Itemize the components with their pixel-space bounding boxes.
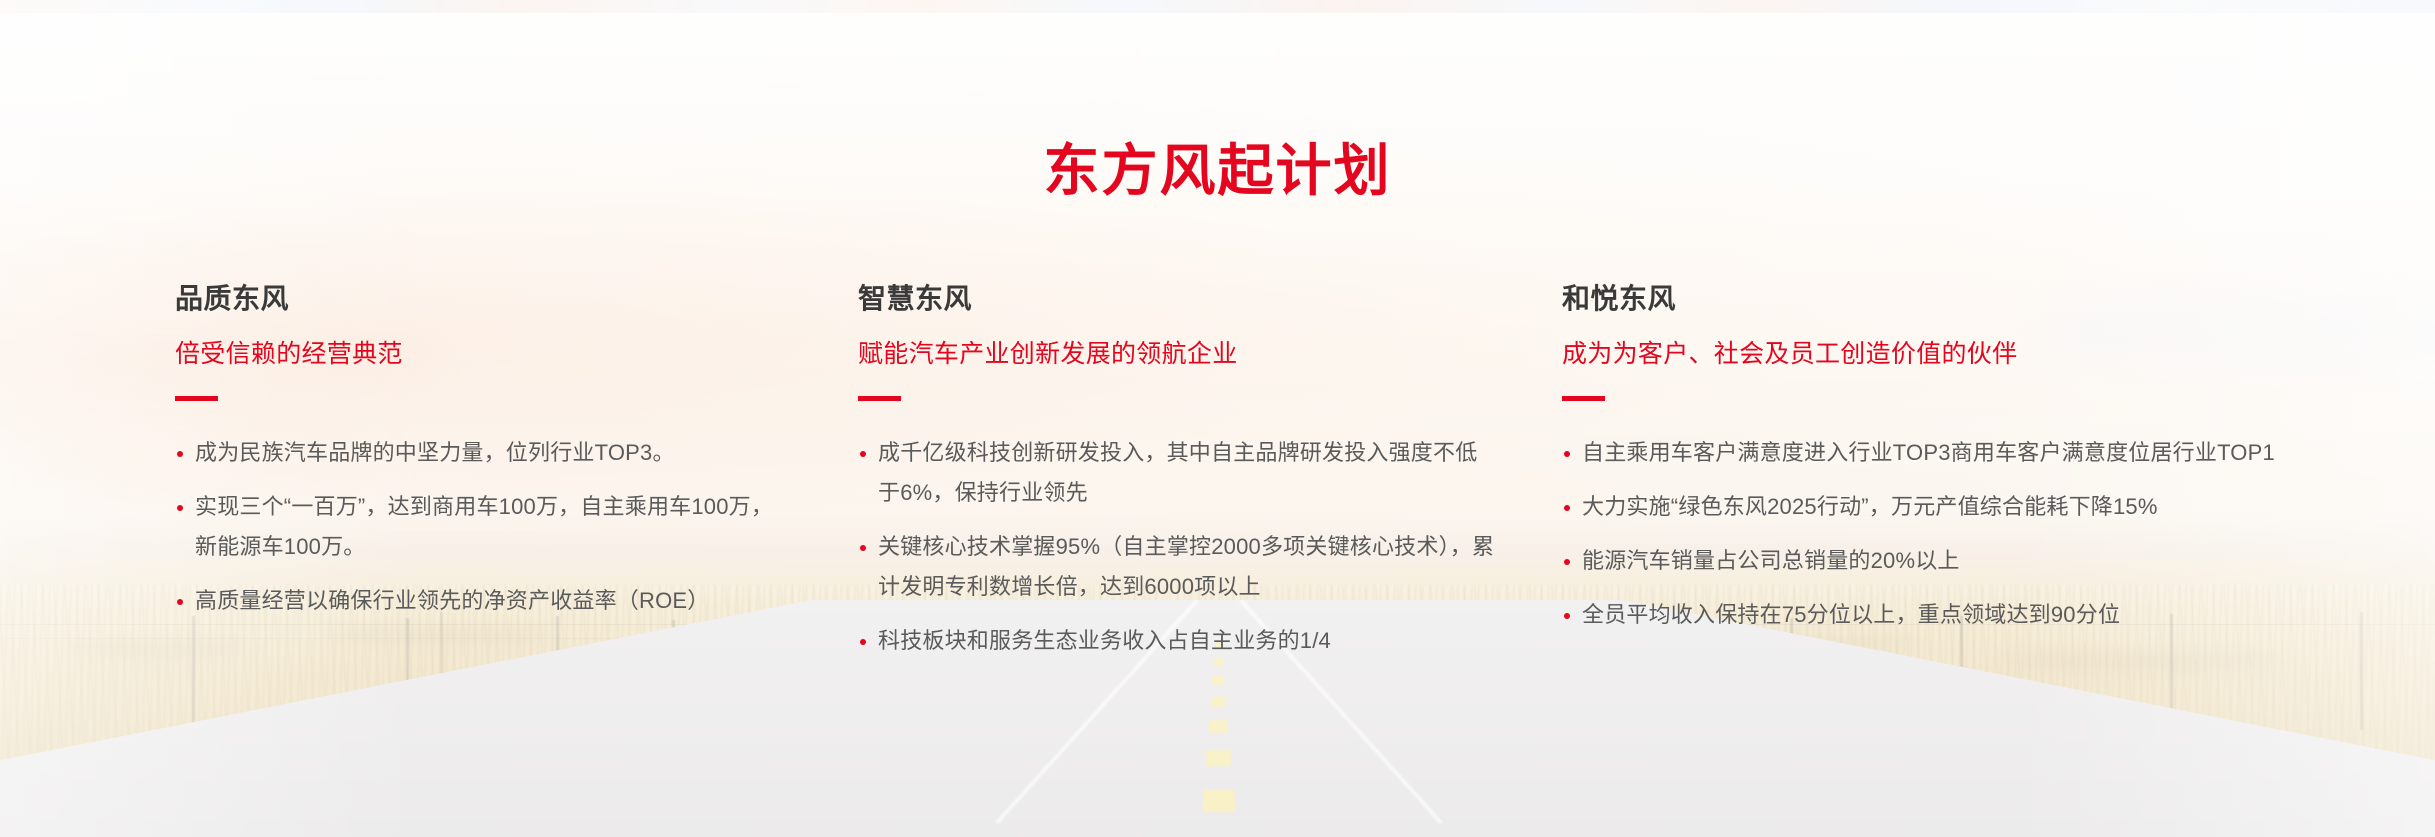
list-item: 全员平均收入保持在75分位以上，重点领域达到90分位: [1562, 595, 2302, 635]
bullet-dot-icon: [177, 599, 183, 605]
column-heading: 智慧东风: [858, 282, 1498, 316]
list-item-text: 能源汽车销量占公司总销量的20%以上: [1582, 548, 1960, 573]
list-item-text: 成千亿级科技创新研发投入，其中自主品牌研发投入强度不低于6%，保持行业领先: [878, 440, 1477, 505]
list-item-text: 全员平均收入保持在75分位以上，重点领域达到90分位: [1582, 602, 2120, 627]
list-item-text: 成为民族汽车品牌的中坚力量，位列行业TOP3。: [195, 440, 675, 465]
slide-canvas: 东方风起计划 品质东风 倍受信赖的经营典范 成为民族汽车品牌的中坚力量，位列行业…: [0, 0, 2435, 837]
list-item: 自主乘用车客户满意度进入行业TOP3商用车客户满意度位居行业TOP1: [1562, 433, 2302, 473]
column-heading: 品质东风: [175, 282, 795, 316]
bullet-dot-icon: [177, 505, 183, 511]
bullet-dot-icon: [1564, 559, 1570, 565]
column-divider: [858, 396, 901, 401]
list-item: 成千亿级科技创新研发投入，其中自主品牌研发投入强度不低于6%，保持行业领先: [858, 433, 1498, 513]
column-divider: [1562, 396, 1605, 401]
column-bullet-list: 自主乘用车客户满意度进入行业TOP3商用车客户满意度位居行业TOP1 大力实施“…: [1562, 433, 2302, 635]
column-heading: 和悦东风: [1562, 282, 2302, 316]
bullet-dot-icon: [177, 451, 183, 457]
bullet-dot-icon: [860, 545, 866, 551]
page-title: 东方风起计划: [0, 140, 2435, 202]
slide-content: 东方风起计划 品质东风 倍受信赖的经营典范 成为民族汽车品牌的中坚力量，位列行业…: [0, 0, 2435, 837]
column-bullet-list: 成千亿级科技创新研发投入，其中自主品牌研发投入强度不低于6%，保持行业领先 关键…: [858, 433, 1498, 661]
list-item: 高质量经营以确保行业领先的净资产收益率（ROE）: [175, 581, 795, 621]
column-intelligence: 智慧东风 赋能汽车产业创新发展的领航企业 成千亿级科技创新研发投入，其中自主品牌…: [858, 282, 1498, 661]
bullet-dot-icon: [860, 639, 866, 645]
list-item-text: 大力实施“绿色东风2025行动”，万元产值综合能耗下降15%: [1582, 494, 2158, 519]
list-item: 实现三个“一百万”，达到商用车100万，自主乘用车100万，新能源车100万。: [175, 487, 795, 567]
column-bullet-list: 成为民族汽车品牌的中坚力量，位列行业TOP3。 实现三个“一百万”，达到商用车1…: [175, 433, 795, 621]
list-item-text: 高质量经营以确保行业领先的净资产收益率（ROE）: [195, 588, 709, 613]
bullet-dot-icon: [1564, 505, 1570, 511]
list-item: 成为民族汽车品牌的中坚力量，位列行业TOP3。: [175, 433, 795, 473]
list-item-text: 关键核心技术掌握95%（自主掌控2000多项关键核心技术），累计发明专利数增长倍…: [878, 534, 1494, 599]
list-item: 能源汽车销量占公司总销量的20%以上: [1562, 541, 2302, 581]
column-subtitle: 成为为客户、社会及员工创造价值的伙伴: [1562, 338, 2302, 370]
column-quality: 品质东风 倍受信赖的经营典范 成为民族汽车品牌的中坚力量，位列行业TOP3。 实…: [175, 282, 795, 621]
column-harmony: 和悦东风 成为为客户、社会及员工创造价值的伙伴 自主乘用车客户满意度进入行业TO…: [1562, 282, 2302, 635]
bullet-dot-icon: [860, 451, 866, 457]
column-divider: [175, 396, 218, 401]
list-item: 大力实施“绿色东风2025行动”，万元产值综合能耗下降15%: [1562, 487, 2302, 527]
column-subtitle: 倍受信赖的经营典范: [175, 338, 795, 370]
list-item-text: 实现三个“一百万”，达到商用车100万，自主乘用车100万，新能源车100万。: [195, 494, 773, 559]
columns-container: 品质东风 倍受信赖的经营典范 成为民族汽车品牌的中坚力量，位列行业TOP3。 实…: [0, 282, 2435, 702]
list-item-text: 自主乘用车客户满意度进入行业TOP3商用车客户满意度位居行业TOP1: [1582, 440, 2275, 465]
list-item: 科技板块和服务生态业务收入占自主业务的1/4: [858, 621, 1498, 661]
bullet-dot-icon: [1564, 613, 1570, 619]
list-item-text: 科技板块和服务生态业务收入占自主业务的1/4: [878, 628, 1331, 653]
bullet-dot-icon: [1564, 451, 1570, 457]
column-subtitle: 赋能汽车产业创新发展的领航企业: [858, 338, 1498, 370]
list-item: 关键核心技术掌握95%（自主掌控2000多项关键核心技术），累计发明专利数增长倍…: [858, 527, 1498, 607]
